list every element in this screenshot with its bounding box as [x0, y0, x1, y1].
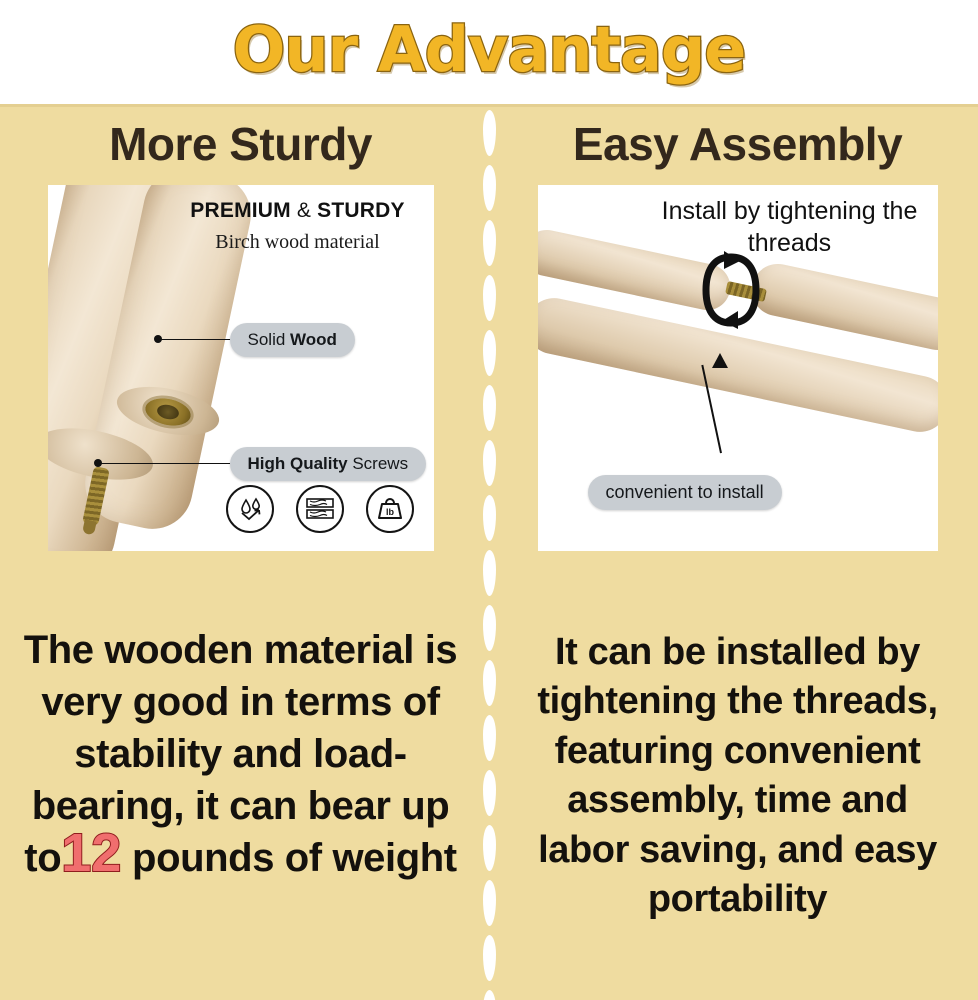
divider-pip: [483, 990, 496, 1000]
callout-high-quality-screws: High Quality Screws: [230, 447, 427, 481]
wood-grain-icon: [296, 485, 344, 533]
leader-line: [100, 463, 230, 465]
divider-pip: [483, 275, 496, 321]
divider-pip: [483, 660, 496, 706]
divider-pip: [483, 110, 496, 156]
column-easy-assembly: Easy Assembly Install by tightening the …: [497, 104, 978, 1000]
divider-pip: [483, 715, 496, 761]
infographic-page: Our Advantage More Sturdy PREMIUM & STUR…: [0, 0, 978, 1000]
callout-prefix: convenient to install: [606, 482, 764, 502]
column-divider: [481, 104, 497, 1000]
water-drop-icon: [226, 485, 274, 533]
callout-prefix: Solid: [248, 330, 291, 349]
divider-pip: [483, 165, 496, 211]
body-before: It can be installed by tightening the th…: [537, 631, 937, 920]
column-heading-right: Easy Assembly: [497, 118, 978, 171]
divider-pip: [483, 825, 496, 871]
certification-badges: lb: [226, 485, 414, 533]
callout-strong: High Quality: [248, 454, 348, 473]
column-more-sturdy: More Sturdy PREMIUM & STURDY Birch wood …: [0, 104, 481, 1000]
product-photo-sturdy: PREMIUM & STURDY Birch wood material Sol…: [48, 185, 434, 551]
divider-pip: [483, 880, 496, 926]
divider-pip: [483, 385, 496, 431]
product-photo-assembly: Install by tightening the threads conven…: [538, 185, 938, 551]
divider-pip: [483, 440, 496, 486]
callout-suffix: Screws: [348, 454, 408, 473]
weight-unit-label: lb: [386, 507, 395, 517]
body-copy-left: The wooden material is very good in term…: [0, 624, 481, 884]
photo-headline-lead: PREMIUM: [190, 199, 291, 222]
divider-pip: [483, 935, 496, 981]
photo-headline-amp: &: [291, 199, 317, 222]
divider-pip: [483, 605, 496, 651]
body-copy-right: It can be installed by tightening the th…: [497, 628, 978, 924]
leader-line: [160, 339, 230, 341]
callout-solid-wood: Solid Wood: [230, 323, 355, 357]
rotate-arrow-icon: [700, 247, 762, 333]
divider-pip: [483, 550, 496, 596]
weight-highlight: 12: [61, 823, 121, 883]
callout-strong: Wood: [290, 330, 337, 349]
divider-pip: [483, 220, 496, 266]
divider-pip: [483, 330, 496, 376]
title-band: Our Advantage: [0, 0, 978, 100]
page-title: Our Advantage: [233, 19, 746, 81]
body-after: pounds of weight: [132, 836, 457, 880]
divider-pip: [483, 770, 496, 816]
photo-subline-left: Birch wood material: [168, 231, 428, 254]
pointer-arrowhead-icon: [712, 353, 728, 368]
photo-headline-left: PREMIUM & STURDY: [168, 199, 428, 223]
wood-rod-icon: [746, 259, 937, 355]
callout-convenient-to-install: convenient to install: [588, 475, 782, 510]
divider-pip: [483, 495, 496, 541]
photo-headline-right: Install by tightening the threads: [648, 195, 932, 259]
photo-headline-tail: STURDY: [317, 199, 405, 222]
weight-icon: lb: [366, 485, 414, 533]
column-heading-left: More Sturdy: [0, 118, 481, 171]
